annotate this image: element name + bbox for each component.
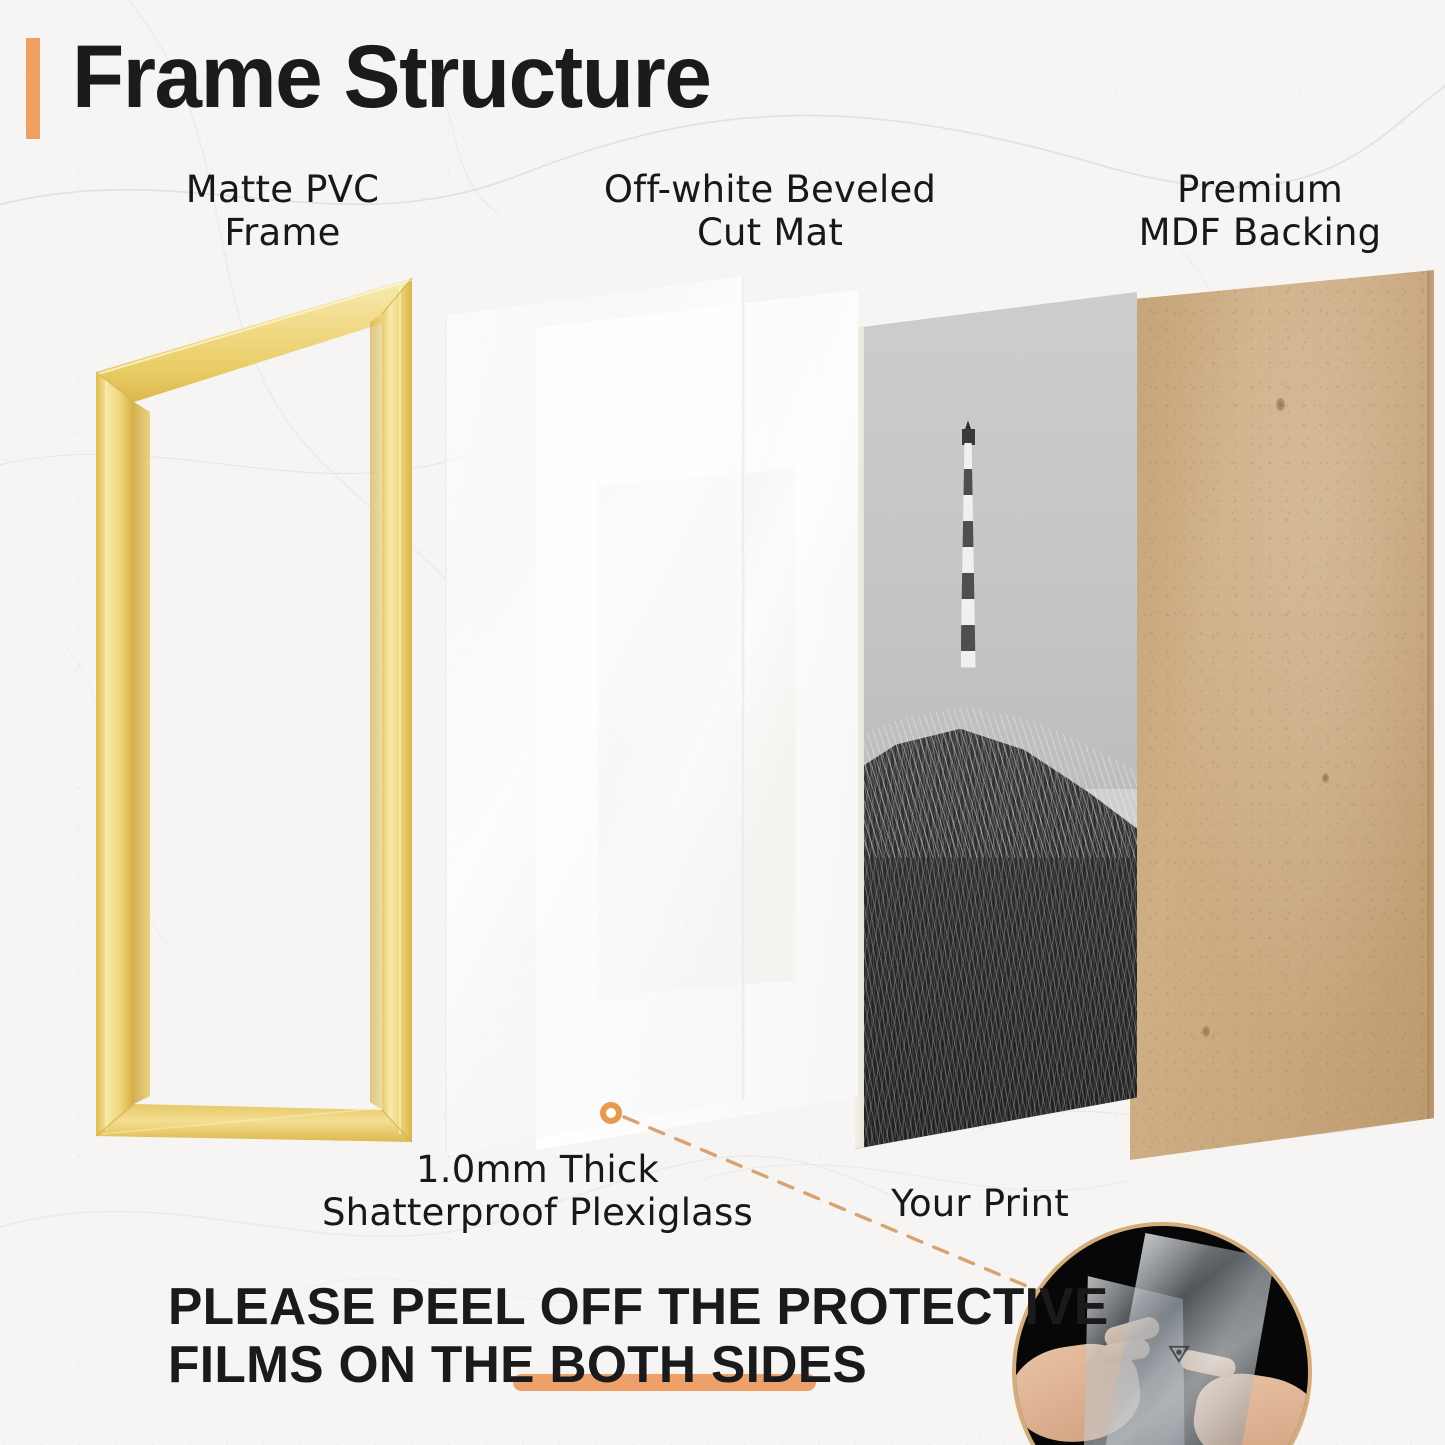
mdf-knot <box>1202 1026 1210 1037</box>
lighthouse-icon <box>957 421 979 681</box>
pvc-frame <box>82 262 434 1162</box>
label-line-2: Shatterproof Plexiglass <box>240 1191 835 1234</box>
infographic-canvas: Frame Structure <box>0 0 1445 1445</box>
lighthouse-lamp <box>962 429 975 445</box>
callout-marker-dot <box>600 1102 622 1124</box>
label-line-2: Frame <box>105 211 460 254</box>
plexiglass-panel <box>445 276 745 1156</box>
mdf-knot <box>1276 398 1285 411</box>
mdf-backing-panel <box>1130 270 1434 1160</box>
plexiglass-left-edge <box>445 276 447 1156</box>
cta-line-1: PLEASE PEEL OFF THE PROTECTIVE <box>168 1278 1039 1336</box>
label-line-2: Cut Mat <box>515 211 1025 254</box>
peel-instruction: PLEASE PEEL OFF THE PROTECTIVE FILMS ON … <box>168 1278 1039 1394</box>
label-line-1: Premium <box>1075 168 1445 211</box>
frame-svg <box>82 262 434 1162</box>
mdf-knot <box>1322 773 1329 783</box>
plexiglass-right-edge <box>742 276 745 1156</box>
lighthouse-tower <box>961 443 976 668</box>
label-line-1: Matte PVC <box>105 168 460 211</box>
label-line-1: Your Print <box>855 1182 1105 1225</box>
label-line-2: MDF Backing <box>1075 211 1445 254</box>
mdf-right-edge <box>1427 270 1434 1160</box>
page-title: Frame Structure <box>72 32 710 121</box>
label-your-print: Your Print <box>855 1182 1105 1225</box>
cta-line-2: FILMS ON THE BOTH SIDES <box>168 1336 1039 1394</box>
plexiglass-reflection <box>445 276 745 1156</box>
title-accent-bar <box>26 38 40 139</box>
label-line-1: 1.0mm Thick <box>240 1148 835 1191</box>
label-mdf-backing: Premium MDF Backing <box>1075 168 1445 255</box>
label-cut-mat: Off-white Beveled Cut Mat <box>515 168 1025 255</box>
label-matte-pvc-frame: Matte PVC Frame <box>105 168 460 255</box>
film-logo-icon <box>1168 1344 1190 1364</box>
label-line-1: Off-white Beveled <box>515 168 1025 211</box>
print-photo-panel <box>855 292 1137 1149</box>
label-plexiglass: 1.0mm Thick Shatterproof Plexiglass <box>240 1148 835 1235</box>
